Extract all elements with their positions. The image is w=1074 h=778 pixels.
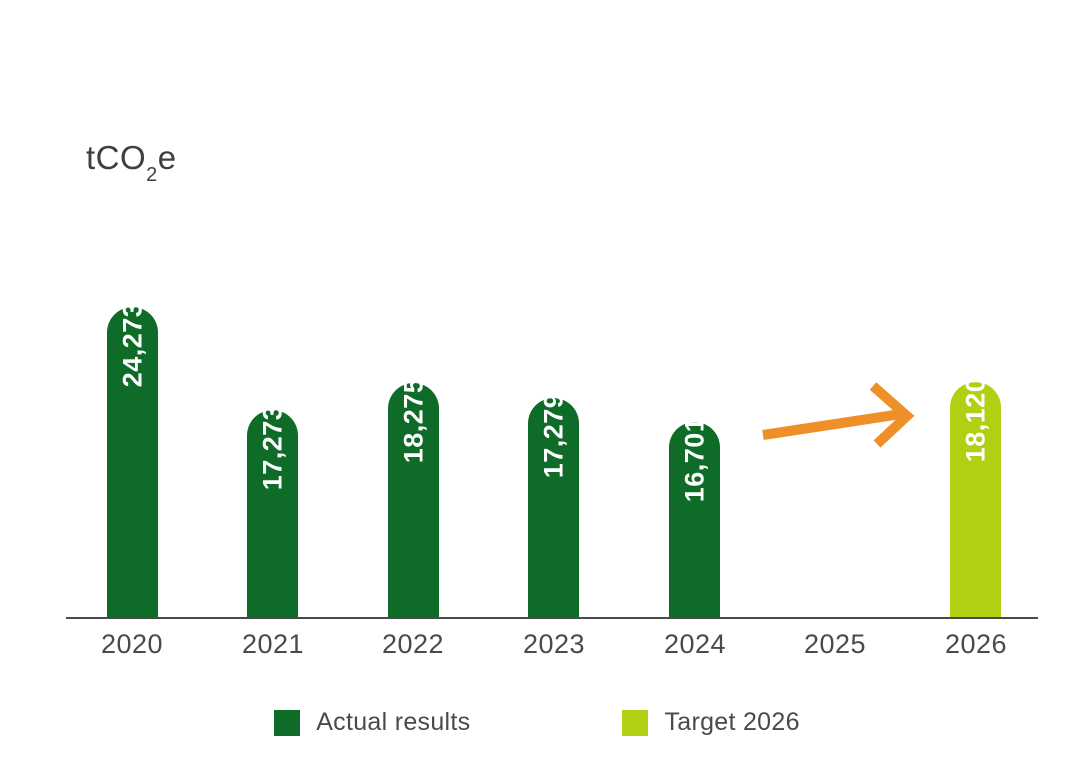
chart-container: tCO2e 24,273 17,273 18,275 17,279 16,701…: [0, 0, 1074, 778]
plot-area: 24,273 17,273 18,275 17,279 16,701 18,12…: [66, 270, 1038, 618]
axis-unit-title-suffix: e: [158, 139, 177, 176]
chart-legend: Actual results Target 2026: [0, 708, 1074, 737]
bar-2026: 18,120: [950, 382, 1001, 618]
bar-value-2022: 18,275: [398, 378, 429, 464]
legend-label-target-2026: Target 2026: [664, 708, 799, 737]
bar-value-2020: 24,273: [117, 302, 148, 388]
x-axis-label-2026: 2026: [916, 629, 1036, 660]
x-axis-label-2024: 2024: [635, 629, 755, 660]
bar-2021: 17,273: [247, 410, 298, 618]
bar-2023: 17,279: [528, 398, 579, 618]
bar-value-2024: 16,701: [679, 417, 710, 503]
legend-swatch-icon-target-2026: [622, 710, 648, 736]
bar-value-2021: 17,273: [257, 405, 288, 491]
bar-2022: 18,275: [388, 383, 439, 618]
legend-item-target-2026[interactable]: Target 2026: [622, 708, 799, 737]
axis-unit-title-prefix: tCO: [86, 139, 146, 176]
x-axis-label-2020: 2020: [72, 629, 192, 660]
legend-swatch-icon-actual-results: [274, 710, 300, 736]
bar-value-2023: 17,279: [538, 393, 569, 479]
x-axis-label-2023: 2023: [494, 629, 614, 660]
x-axis-label-2021: 2021: [213, 629, 333, 660]
bar-2020: 24,273: [107, 307, 158, 618]
axis-unit-title-subscript: 2: [146, 164, 158, 186]
legend-item-actual-results[interactable]: Actual results: [274, 708, 470, 737]
x-axis-label-2025: 2025: [775, 629, 895, 660]
x-axis-line: [66, 617, 1038, 619]
chart-axis-unit-title: tCO2e: [86, 139, 177, 183]
bar-2024: 16,701: [669, 422, 720, 618]
x-axis-label-2022: 2022: [353, 629, 473, 660]
bar-value-2026: 18,120: [960, 377, 991, 463]
legend-label-actual-results: Actual results: [316, 708, 470, 737]
